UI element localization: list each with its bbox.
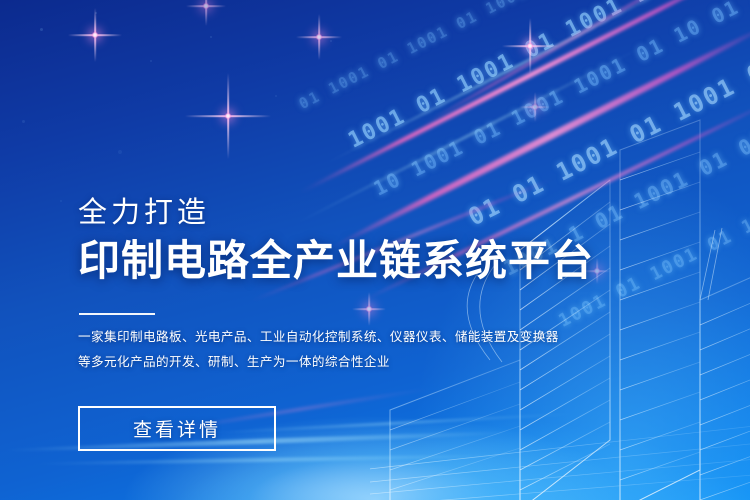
hero-content: 全力打造 印制电路全产业链系统平台 一家集印制电路板、光电产品、工业自动化控制系…	[78, 0, 678, 500]
hero-eyebrow: 全力打造	[78, 198, 210, 230]
title-divider	[79, 313, 155, 315]
hero-banner: 01 1001 01 1001 01 1001 01 1001 01 1001 …	[0, 0, 750, 500]
hero-description-line-2: 等多元化产品的开发、研制、生产为一体的综合性企业	[78, 350, 558, 375]
hero-description: 一家集印制电路板、光电产品、工业自动化控制系统、仪器仪表、储能装置及变换器 等多…	[78, 325, 558, 375]
view-details-button[interactable]: 查看详情	[78, 406, 276, 451]
hero-description-line-1: 一家集印制电路板、光电产品、工业自动化控制系统、仪器仪表、储能装置及变换器	[78, 325, 558, 350]
page-title: 印制电路全产业链系统平台	[78, 237, 594, 285]
